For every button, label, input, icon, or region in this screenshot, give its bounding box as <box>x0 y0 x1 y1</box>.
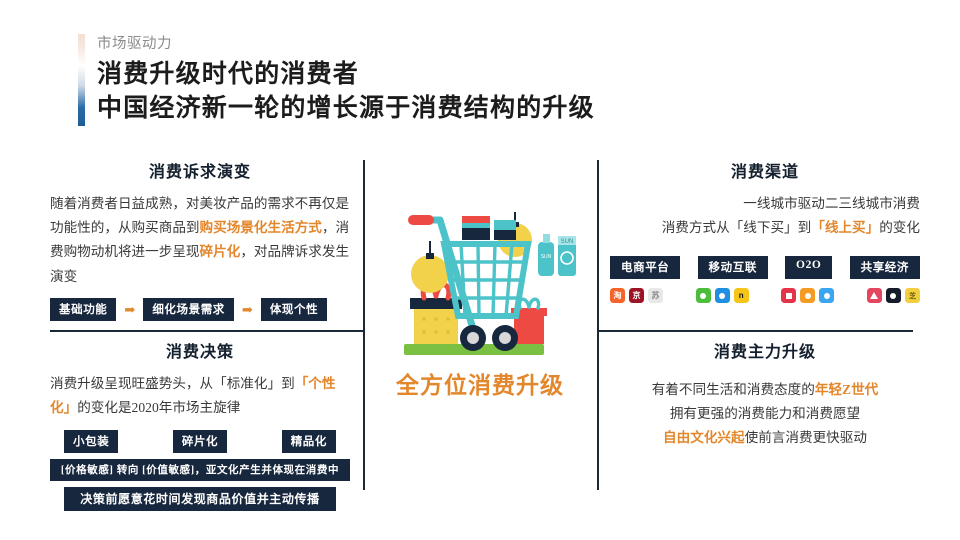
quadrant-consumer-demand-evolution: 消费诉求演变 随着消费者日益成熟，对美妆产品的需求不再仅是功能性的，从购买商品到… <box>50 158 350 321</box>
br-line3-highlight: 自由文化兴起 <box>663 430 745 445</box>
flow-badge-individuality[interactable]: 体现个性 <box>261 298 327 321</box>
taobao-icon[interactable]: 淘 <box>610 288 625 303</box>
jd-icon[interactable]: 京 <box>629 288 644 303</box>
quadrant-body-top-right: 一线城市驱动二三线城市消费 消费方式从「线下买」到「线上买」的变化 <box>610 192 920 240</box>
tl-text-4: ，对 <box>240 244 267 259</box>
red-gift-bow-right <box>529 299 539 308</box>
uber-icon[interactable] <box>886 288 901 303</box>
cart-svg: SUN SUN <box>378 186 582 386</box>
header-accent-bar <box>78 34 85 126</box>
sunscreen-tube-label: SUN <box>561 239 574 245</box>
tl-highlight-3: 碎片化 <box>200 244 241 259</box>
quadrant-consumption-channels: 消费渠道 一线城市驱动二三线城市消费 消费方式从「线下买」到「线上买」的变化 电… <box>610 158 920 303</box>
eleme-icon[interactable] <box>819 288 834 303</box>
decision-badge-row-1: 小包装 碎片化 精品化 <box>50 430 350 453</box>
quadrant-main-consumer-upgrade: 消费主力升级 有着不同生活和消费态度的年轻Z世代 拥有更强的消费能力和消费愿望 … <box>610 338 920 451</box>
dianping-icon[interactable] <box>781 288 796 303</box>
shopping-cart-illustration: SUN SUN <box>378 186 582 386</box>
ornament-cap-left <box>426 253 434 259</box>
header-kicker: 市场驱动力 <box>97 32 172 53</box>
bl-text-1: 消费升级呈现旺盛势头，从「标准化」到 <box>50 376 295 391</box>
tr-line2-pre: 消费方式从「线下买」到 <box>662 220 812 235</box>
channel-badge-mobile-internet[interactable]: 移动互联 <box>698 256 768 279</box>
quadrant-title-top-left: 消费诉求演变 <box>50 158 350 182</box>
arrow-right-icon-2: ➡ <box>242 303 253 316</box>
br-line-3: 自由文化兴起使前言消费更快驱动 <box>610 426 920 450</box>
quadrant-title-top-right: 消费渠道 <box>610 158 920 182</box>
box-teal-2-bottom <box>494 230 516 240</box>
flow-badge-row: 基础功能 ➡ 细化场景需求 ➡ 体现个性 <box>50 298 350 321</box>
center-caption: 全方位消费升级 <box>363 366 597 400</box>
br-line3-post: 使前言消费更快驱动 <box>745 430 867 445</box>
yellow-gift-box <box>414 306 458 344</box>
box-teal-1-top <box>462 216 490 223</box>
tr-line2-post: 的变化 <box>879 220 920 235</box>
decision-badge-stack: [价格敏感] 转向 [价值敏感]，亚文化产生并体现在消费中 决策前愿意花时间发现… <box>50 459 350 511</box>
airbnb-icon[interactable] <box>867 288 882 303</box>
divider-horizontal-left <box>50 330 364 332</box>
meituan-icon[interactable] <box>800 288 815 303</box>
divider-horizontal-right <box>597 330 913 332</box>
toutiao-icon[interactable]: n <box>734 288 749 303</box>
channel-badge-sharing-economy[interactable]: 共享经济 <box>850 256 920 279</box>
channel-badge-ecommerce[interactable]: 电商平台 <box>610 256 680 279</box>
decision-badge-value-discovery[interactable]: 决策前愿意花时间发现商品价值并主动传播 <box>64 487 336 511</box>
tr-line-1: 一线城市驱动二三线城市消费 <box>610 192 920 216</box>
channel-badge-o2o[interactable]: O2O <box>785 256 832 279</box>
zhima-icon[interactable]: 芝 <box>905 288 920 303</box>
divider-vertical-right <box>597 160 599 490</box>
divider-vertical-left <box>363 160 365 490</box>
quadrant-body-bottom-left: 消费升级呈现旺盛势头，从「标准化」到「个性化」的变化是2020年市场主旋律 <box>50 372 350 420</box>
icon-group-sharing-economy: 芝 <box>867 288 920 303</box>
decision-badge-small-pack[interactable]: 小包装 <box>64 430 118 453</box>
quadrant-title-bottom-right: 消费主力升级 <box>610 338 920 362</box>
qq-icon[interactable] <box>715 288 730 303</box>
page-title-line-1: 消费升级时代的消费者 <box>97 54 359 90</box>
quadrant-body-top-left: 随着消费者日益成熟，对美妆产品的需求不再仅是功能性的，从购买商品到购买场景化生活… <box>50 192 350 289</box>
tl-highlight-2: 方式 <box>295 220 322 235</box>
quadrant-consumer-decision: 消费决策 消费升级呈现旺盛势头，从「标准化」到「个性化」的变化是2020年市场主… <box>50 338 350 511</box>
tl-text-1: 随着消费者日益成熟，对美妆产品的需求不再 <box>50 196 322 211</box>
br-line-1: 有着不同生活和消费态度的年轻Z世代 <box>610 378 920 402</box>
icon-group-o2o <box>781 288 834 303</box>
icon-group-mobile-internet: n <box>696 288 749 303</box>
br-line-2: 拥有更强的消费能力和消费愿望 <box>610 402 920 426</box>
tr-line2-highlight: 「线上买」 <box>811 220 879 235</box>
tl-highlight-1: 购买场景化生活 <box>200 220 295 235</box>
icon-group-ecommerce: 淘 京 苏 <box>610 288 663 303</box>
cart-handle-grip <box>408 215 434 225</box>
box-teal-1-bottom <box>462 228 490 240</box>
flow-badge-scenario-demand[interactable]: 细化场景需求 <box>143 298 234 321</box>
tr-line-2: 消费方式从「线下买」到「线上买」的变化 <box>610 216 920 240</box>
app-icon-groups: 淘 京 苏 n 芝 <box>610 288 920 303</box>
quadrant-body-bottom-right: 有着不同生活和消费态度的年轻Z世代 拥有更强的消费能力和消费愿望 自由文化兴起使… <box>610 378 920 451</box>
br-line1-highlight: 年轻Z世代 <box>815 382 878 397</box>
arrow-right-icon-1: ➡ <box>124 303 135 316</box>
flow-badge-basic-function[interactable]: 基础功能 <box>50 298 116 321</box>
channel-badge-row: 电商平台 移动互联 O2O 共享经济 <box>610 256 920 279</box>
wechat-icon[interactable] <box>696 288 711 303</box>
br-line1-pre: 有着不同生活和消费态度的 <box>652 382 815 397</box>
ornament-left <box>411 255 449 293</box>
sunscreen-bottle-label: SUN <box>541 254 552 260</box>
suning-icon[interactable]: 苏 <box>648 288 663 303</box>
page-title-line-2: 中国经济新一轮的增长源于消费结构的升级 <box>97 88 595 124</box>
quadrant-title-bottom-left: 消费决策 <box>50 338 350 362</box>
decision-badge-premium[interactable]: 精品化 <box>282 430 336 453</box>
decision-badge-fragmentation[interactable]: 碎片化 <box>173 430 227 453</box>
sunscreen-bottle-cap <box>543 234 550 243</box>
decision-badge-value-sensitive[interactable]: [价格敏感] 转向 [价值敏感]，亚文化产生并体现在消费中 <box>50 459 350 481</box>
bl-text-2: 的变化是2020年市场主旋律 <box>77 400 240 415</box>
page-header: 市场驱动力 消费升级时代的消费者 中国经济新一轮的增长源于消费结构的升级 <box>78 32 798 132</box>
